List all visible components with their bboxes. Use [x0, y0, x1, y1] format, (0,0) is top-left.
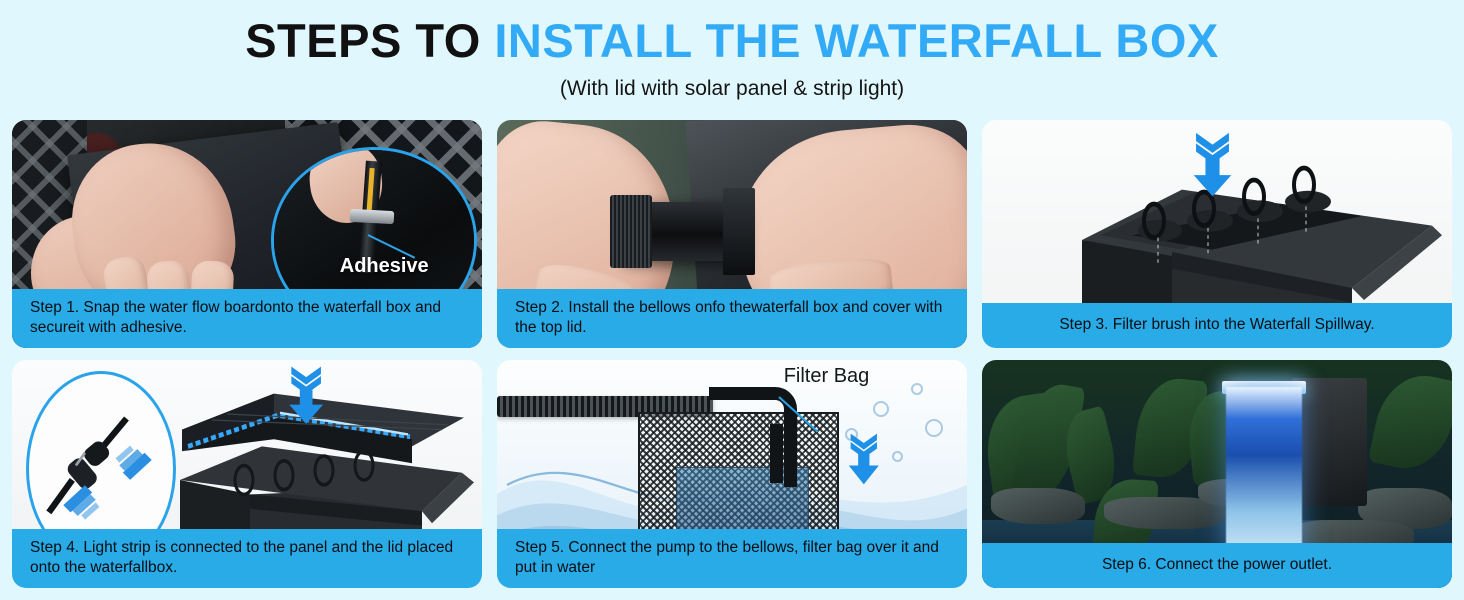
steps-grid: Adhesive Step 1. Snap the water flow boa…	[12, 120, 1452, 588]
page-title-accent: INSTALL THE WATERFALL BOX	[494, 14, 1218, 67]
adhesive-label: Adhesive	[340, 255, 429, 278]
press-arrow-down-icon	[285, 362, 327, 430]
infographic-page: STEPS TO INSTALL THE WATERFALL BOX (With…	[0, 0, 1464, 600]
step-card-5: Filter Bag Step 5. Connect the pump to t…	[497, 360, 967, 588]
step-3-caption: Step 3. Filter brush into the Waterfall …	[982, 303, 1452, 348]
filter-bag-label: Filter Bag	[784, 365, 870, 388]
page-title: STEPS TO INSTALL THE WATERFALL BOX	[0, 0, 1464, 68]
page-header: STEPS TO INSTALL THE WATERFALL BOX (With…	[0, 0, 1464, 118]
page-subtitle: (With lid with solar panel & strip light…	[0, 68, 1464, 102]
step-card-3: Step 3. Filter brush into the Waterfall …	[982, 120, 1452, 348]
step-4-caption: Step 4. Light strip is connected to the …	[12, 529, 482, 588]
step-card-2: Step 2. Install the bellows onfo thewate…	[497, 120, 967, 348]
page-title-dark: STEPS TO	[245, 14, 494, 67]
illuminated-waterfall	[1226, 387, 1301, 565]
step-1-caption: Step 1. Snap the water flow boardonto th…	[12, 289, 482, 348]
submerge-arrow-down-icon	[845, 428, 883, 492]
step-card-4: Step 4. Light strip is connected to the …	[12, 360, 482, 588]
step-card-1: Adhesive Step 1. Snap the water flow boa…	[12, 120, 482, 348]
insert-arrow-down-icon	[1189, 127, 1236, 205]
step-5-caption: Step 5. Connect the pump to the bellows,…	[497, 529, 967, 588]
step-6-caption: Step 6. Connect the power outlet.	[982, 543, 1452, 588]
waterfall-box-unit	[1292, 378, 1367, 506]
step-card-6: Step 6. Connect the power outlet.	[982, 360, 1452, 588]
step-2-caption: Step 2. Install the bellows onfo thewate…	[497, 289, 967, 348]
